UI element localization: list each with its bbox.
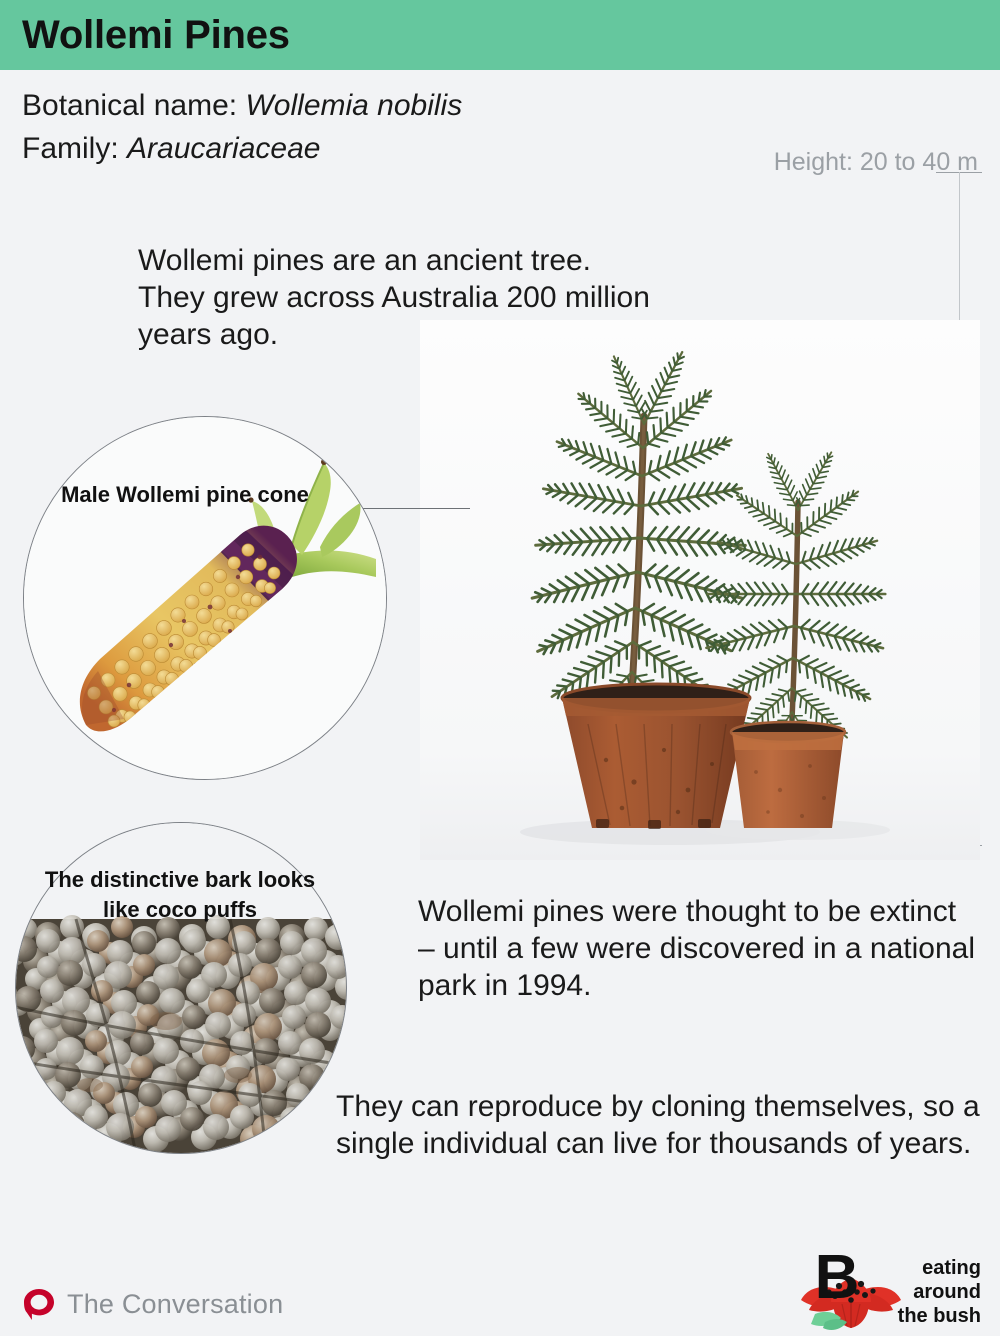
beating-around-the-bush-logo[interactable]: B eating around the bush bbox=[795, 1248, 983, 1330]
the-conversation-wordmark: The Conversation bbox=[67, 1289, 283, 1320]
pot-small bbox=[731, 722, 845, 828]
botanical-name-line: Botanical name: Wollemia nobilis bbox=[22, 84, 462, 127]
conversation-speech-bubble-icon bbox=[22, 1287, 56, 1321]
paragraph-extinct: Wollemi pines were thought to be extinct… bbox=[418, 893, 978, 1004]
plants-illustration bbox=[420, 320, 980, 860]
batb-line-1: eating bbox=[922, 1257, 981, 1279]
wollemi-pine-plants-photo bbox=[420, 320, 980, 860]
batb-letter-b: B bbox=[815, 1248, 860, 1312]
pot-large bbox=[562, 684, 750, 829]
bark-callout-circle bbox=[15, 822, 347, 1154]
the-conversation-logo[interactable]: The Conversation bbox=[22, 1287, 283, 1321]
male-pine-cone-illustration bbox=[24, 417, 387, 780]
bark-texture-illustration bbox=[16, 823, 347, 1154]
paragraph-clone: They can reproduce by cloning themselves… bbox=[336, 1088, 986, 1162]
batb-logo-graphic: B eating around the bush bbox=[795, 1248, 983, 1330]
family-value: Araucariaceae bbox=[127, 132, 320, 165]
cone-callout-leader-line bbox=[350, 508, 470, 509]
botanical-name-label: Botanical name: bbox=[22, 89, 237, 122]
bark-photo-region bbox=[16, 915, 347, 1154]
page-title: Wollemi Pines bbox=[22, 13, 290, 58]
cone-callout-circle bbox=[23, 416, 387, 780]
botanical-name-value: Wollemia nobilis bbox=[245, 89, 462, 122]
batb-line-3: the bush bbox=[898, 1305, 981, 1327]
family-line: Family: Araucariaceae bbox=[22, 127, 462, 170]
taxonomy-block: Botanical name: Wollemia nobilis Family:… bbox=[22, 84, 462, 170]
family-label: Family: bbox=[22, 132, 119, 165]
batb-line-2: around bbox=[913, 1281, 981, 1303]
